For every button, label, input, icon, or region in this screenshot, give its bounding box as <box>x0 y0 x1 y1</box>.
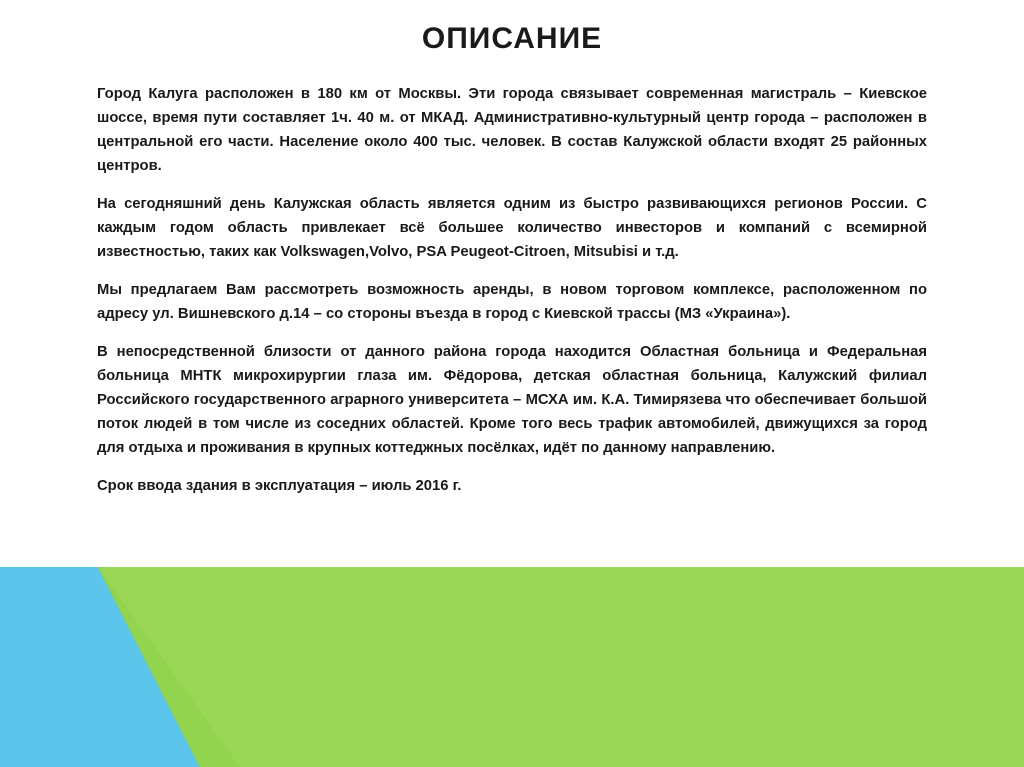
paragraph: Город Калуга расположен в 180 км от Моск… <box>97 83 927 179</box>
decorative-footer-band <box>0 567 1024 767</box>
page-title: ОПИСАНИЕ <box>0 22 1024 56</box>
slide: ОПИСАНИЕ Город Калуга расположен в 180 к… <box>0 0 1024 767</box>
paragraph: В непосредственной близости от данного р… <box>97 341 927 461</box>
paragraph: Мы предлагаем Вам рассмотреть возможност… <box>97 279 927 327</box>
paragraph: Срок ввода здания в эксплуатация – июль … <box>97 475 927 499</box>
paragraph: На сегодняшний день Калужская область яв… <box>97 193 927 265</box>
description-body: Город Калуга расположен в 180 км от Моск… <box>97 83 927 499</box>
